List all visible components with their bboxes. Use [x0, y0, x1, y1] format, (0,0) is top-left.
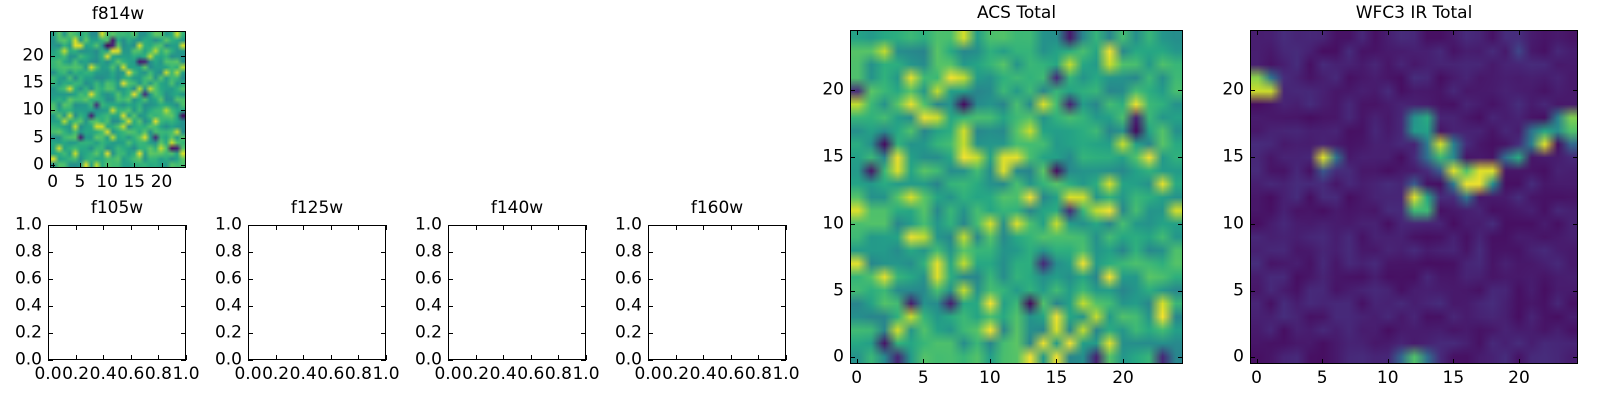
xtick-label-f814w-3: 15 [123, 174, 145, 191]
ytick-mark-f105w-3 [48, 279, 53, 280]
ytick-mark-right-f125w-3 [381, 279, 386, 280]
xtick-mark-f105w-1 [76, 355, 77, 360]
panel-plot-area-f125w [249, 226, 385, 359]
xtick-label-f140w-2: 0.4 [490, 366, 517, 383]
ytick-label-f125w-1: 0.2 [215, 325, 242, 342]
ytick-label-f105w-4: 0.8 [15, 244, 42, 261]
ytick-mark-right-wfc3-ir-total-4 [1573, 90, 1578, 91]
ytick-label-f140w-2: 0.4 [415, 298, 442, 315]
ytick-label-f160w-3: 0.6 [615, 271, 642, 288]
panel-axes-f160w [648, 225, 786, 360]
ytick-label-acs-total-4: 20 [822, 82, 844, 99]
ytick-mark-right-f140w-4 [581, 252, 586, 253]
ytick-mark-right-f814w-1 [181, 138, 186, 139]
xtick-label-f105w-3: 0.6 [117, 366, 144, 383]
ytick-mark-wfc3-ir-total-3 [1250, 157, 1255, 158]
ytick-label-f105w-0: 0.0 [15, 352, 42, 369]
xtick-label-acs-total-3: 15 [1046, 370, 1068, 387]
xtick-mark-top-acs-total-1 [923, 30, 924, 35]
xtick-label-f160w-4: 0.8 [745, 366, 772, 383]
ytick-mark-right-f140w-5 [581, 225, 586, 226]
panel-axes-acs-total [850, 30, 1183, 364]
xtick-mark-f814w-3 [134, 163, 135, 168]
xtick-mark-f125w-3 [331, 355, 332, 360]
ytick-mark-f105w-1 [48, 333, 53, 334]
xtick-mark-wfc3-ir-total-1 [1322, 359, 1323, 364]
xtick-mark-top-f814w-4 [162, 31, 163, 36]
ytick-mark-acs-total-3 [850, 157, 855, 158]
ytick-label-f140w-1: 0.2 [415, 325, 442, 342]
xtick-mark-top-f814w-2 [107, 31, 108, 36]
xtick-mark-acs-total-3 [1056, 359, 1057, 364]
ytick-mark-f814w-1 [50, 138, 55, 139]
xtick-mark-top-acs-total-4 [1123, 30, 1124, 35]
panel-title-f140w: f140w [448, 200, 586, 217]
ytick-mark-acs-total-0 [850, 357, 855, 358]
xtick-mark-top-acs-total-0 [857, 30, 858, 35]
xtick-mark-wfc3-ir-total-2 [1388, 359, 1389, 364]
xtick-mark-wfc3-ir-total-4 [1519, 359, 1520, 364]
xtick-mark-top-f160w-4 [758, 225, 759, 230]
ytick-mark-f125w-5 [248, 225, 253, 226]
xtick-label-f160w-5: 1.0 [772, 366, 799, 383]
xtick-mark-f160w-2 [703, 355, 704, 360]
xtick-label-f125w-5: 1.0 [372, 366, 399, 383]
ytick-mark-f140w-3 [448, 279, 453, 280]
xtick-mark-f105w-5 [186, 355, 187, 360]
ytick-mark-right-f814w-0 [181, 165, 186, 166]
xtick-label-f105w-4: 0.8 [145, 366, 172, 383]
heatmap-wfc3-ir-total [1251, 31, 1577, 363]
ytick-label-acs-total-2: 10 [822, 215, 844, 232]
ytick-label-f814w-4: 20 [22, 47, 44, 64]
ytick-mark-f814w-4 [50, 56, 55, 57]
xtick-label-f105w-5: 1.0 [172, 366, 199, 383]
heatmap-f814w [51, 32, 185, 167]
xtick-mark-acs-total-1 [923, 359, 924, 364]
xtick-mark-f814w-4 [162, 163, 163, 168]
xtick-label-acs-total-2: 10 [979, 370, 1001, 387]
ytick-mark-wfc3-ir-total-1 [1250, 291, 1255, 292]
xtick-mark-top-f814w-0 [53, 31, 54, 36]
ytick-mark-right-f814w-3 [181, 83, 186, 84]
ytick-label-f105w-1: 0.2 [15, 325, 42, 342]
xtick-label-f140w-3: 0.6 [517, 366, 544, 383]
xtick-mark-wfc3-ir-total-0 [1257, 359, 1258, 364]
panel-axes-wfc3-ir-total [1250, 30, 1578, 364]
xtick-mark-top-f105w-5 [186, 225, 187, 230]
xtick-label-wfc3-ir-total-3: 15 [1443, 370, 1465, 387]
ytick-mark-f814w-3 [50, 83, 55, 84]
xtick-mark-acs-total-2 [990, 359, 991, 364]
ytick-mark-f125w-1 [248, 333, 253, 334]
ytick-mark-right-f105w-2 [181, 306, 186, 307]
xtick-mark-f105w-3 [131, 355, 132, 360]
ytick-mark-right-f125w-5 [381, 225, 386, 226]
xtick-mark-f160w-3 [731, 355, 732, 360]
xtick-mark-top-f125w-3 [331, 225, 332, 230]
xtick-label-wfc3-ir-total-1: 5 [1317, 370, 1328, 387]
xtick-mark-top-f140w-1 [476, 225, 477, 230]
figure-canvas: f814w0510152005101520f105w0.00.20.40.60.… [0, 0, 1600, 400]
ytick-label-f125w-5: 1.0 [215, 217, 242, 234]
ytick-mark-f140w-5 [448, 225, 453, 226]
ytick-label-wfc3-ir-total-4: 20 [1222, 82, 1244, 99]
xtick-mark-f160w-5 [786, 355, 787, 360]
panel-plot-area-f105w [49, 226, 185, 359]
ytick-mark-right-f160w-2 [781, 306, 786, 307]
xtick-label-f140w-5: 1.0 [572, 366, 599, 383]
ytick-mark-wfc3-ir-total-0 [1250, 357, 1255, 358]
ytick-label-acs-total-1: 5 [833, 282, 844, 299]
ytick-label-f125w-4: 0.8 [215, 244, 242, 261]
ytick-mark-right-f105w-5 [181, 225, 186, 226]
xtick-mark-f105w-2 [103, 355, 104, 360]
ytick-mark-f105w-5 [48, 225, 53, 226]
ytick-mark-right-acs-total-1 [1178, 291, 1183, 292]
ytick-label-wfc3-ir-total-3: 15 [1222, 148, 1244, 165]
ytick-mark-acs-total-1 [850, 291, 855, 292]
ytick-label-acs-total-3: 15 [822, 148, 844, 165]
xtick-mark-f105w-4 [158, 355, 159, 360]
xtick-mark-top-f160w-1 [676, 225, 677, 230]
ytick-label-f160w-1: 0.2 [615, 325, 642, 342]
ytick-label-f160w-5: 1.0 [615, 217, 642, 234]
ytick-mark-right-f125w-0 [381, 360, 386, 361]
xtick-mark-f125w-5 [386, 355, 387, 360]
xtick-mark-top-f105w-2 [103, 225, 104, 230]
xtick-label-wfc3-ir-total-0: 0 [1251, 370, 1262, 387]
xtick-mark-f140w-4 [558, 355, 559, 360]
ytick-mark-f140w-0 [448, 360, 453, 361]
ytick-mark-f125w-4 [248, 252, 253, 253]
xtick-mark-top-f814w-1 [80, 31, 81, 36]
xtick-mark-top-f140w-4 [558, 225, 559, 230]
xtick-mark-top-f140w-2 [503, 225, 504, 230]
panel-title-f814w: f814w [50, 6, 186, 23]
xtick-mark-f125w-2 [303, 355, 304, 360]
ytick-mark-f160w-1 [648, 333, 653, 334]
xtick-label-f140w-4: 0.8 [545, 366, 572, 383]
xtick-mark-f814w-2 [107, 163, 108, 168]
ytick-mark-f160w-0 [648, 360, 653, 361]
ytick-label-f140w-0: 0.0 [415, 352, 442, 369]
xtick-mark-top-f160w-2 [703, 225, 704, 230]
ytick-label-f125w-2: 0.4 [215, 298, 242, 315]
ytick-mark-f105w-0 [48, 360, 53, 361]
ytick-mark-right-f125w-2 [381, 306, 386, 307]
xtick-mark-top-wfc3-ir-total-2 [1388, 30, 1389, 35]
ytick-mark-acs-total-4 [850, 90, 855, 91]
panel-axes-f140w [448, 225, 586, 360]
ytick-mark-right-f140w-1 [581, 333, 586, 334]
xtick-label-f125w-4: 0.8 [345, 366, 372, 383]
ytick-mark-f160w-2 [648, 306, 653, 307]
ytick-label-f140w-5: 1.0 [415, 217, 442, 234]
ytick-label-f105w-3: 0.6 [15, 271, 42, 288]
ytick-mark-f125w-3 [248, 279, 253, 280]
xtick-label-wfc3-ir-total-4: 20 [1508, 370, 1530, 387]
xtick-mark-wfc3-ir-total-3 [1453, 359, 1454, 364]
ytick-label-f814w-0: 0 [33, 157, 44, 174]
xtick-mark-f160w-4 [758, 355, 759, 360]
ytick-mark-f105w-4 [48, 252, 53, 253]
xtick-mark-top-f105w-4 [158, 225, 159, 230]
ytick-label-wfc3-ir-total-0: 0 [1233, 349, 1244, 366]
ytick-label-wfc3-ir-total-1: 5 [1233, 282, 1244, 299]
ytick-mark-f125w-2 [248, 306, 253, 307]
xtick-label-f105w-2: 0.4 [90, 366, 117, 383]
ytick-label-f140w-4: 0.8 [415, 244, 442, 261]
ytick-label-f105w-2: 0.4 [15, 298, 42, 315]
ytick-mark-right-wfc3-ir-total-2 [1573, 224, 1578, 225]
xtick-label-f125w-2: 0.4 [290, 366, 317, 383]
xtick-label-f140w-1: 0.2 [462, 366, 489, 383]
xtick-mark-top-wfc3-ir-total-0 [1257, 30, 1258, 35]
xtick-mark-top-wfc3-ir-total-1 [1322, 30, 1323, 35]
ytick-mark-right-f160w-4 [781, 252, 786, 253]
xtick-mark-f140w-2 [503, 355, 504, 360]
ytick-mark-f160w-5 [648, 225, 653, 226]
xtick-mark-top-wfc3-ir-total-4 [1519, 30, 1520, 35]
xtick-label-f125w-3: 0.6 [317, 366, 344, 383]
xtick-label-f814w-2: 10 [96, 174, 118, 191]
ytick-label-f160w-0: 0.0 [615, 352, 642, 369]
ytick-mark-right-f105w-4 [181, 252, 186, 253]
panel-title-f160w: f160w [648, 200, 786, 217]
ytick-mark-right-f160w-1 [781, 333, 786, 334]
xtick-label-acs-total-4: 20 [1112, 370, 1134, 387]
panel-axes-f105w [48, 225, 186, 360]
ytick-mark-f814w-0 [50, 165, 55, 166]
xtick-label-f125w-1: 0.2 [262, 366, 289, 383]
xtick-mark-top-f125w-4 [358, 225, 359, 230]
ytick-mark-wfc3-ir-total-2 [1250, 224, 1255, 225]
xtick-mark-top-f160w-3 [731, 225, 732, 230]
ytick-mark-right-wfc3-ir-total-1 [1573, 291, 1578, 292]
xtick-mark-top-wfc3-ir-total-3 [1453, 30, 1454, 35]
xtick-mark-f140w-5 [586, 355, 587, 360]
xtick-label-f814w-0: 0 [47, 174, 58, 191]
panel-title-wfc3-ir-total: WFC3 IR Total [1250, 5, 1578, 22]
ytick-label-f125w-0: 0.0 [215, 352, 242, 369]
xtick-mark-acs-total-4 [1123, 359, 1124, 364]
xtick-mark-f160w-1 [676, 355, 677, 360]
heatmap-acs-total [851, 31, 1182, 363]
ytick-mark-right-f140w-3 [581, 279, 586, 280]
ytick-mark-wfc3-ir-total-4 [1250, 90, 1255, 91]
xtick-label-f160w-2: 0.4 [690, 366, 717, 383]
panel-plot-area-f160w [649, 226, 785, 359]
xtick-mark-f140w-1 [476, 355, 477, 360]
ytick-mark-right-acs-total-0 [1178, 357, 1183, 358]
ytick-mark-f125w-0 [248, 360, 253, 361]
xtick-mark-f125w-1 [276, 355, 277, 360]
ytick-mark-right-f814w-4 [181, 56, 186, 57]
panel-axes-f125w [248, 225, 386, 360]
ytick-mark-f105w-2 [48, 306, 53, 307]
xtick-mark-top-f140w-5 [586, 225, 587, 230]
xtick-mark-acs-total-0 [857, 359, 858, 364]
xtick-mark-top-acs-total-3 [1056, 30, 1057, 35]
ytick-label-f125w-3: 0.6 [215, 271, 242, 288]
panel-axes-f814w [50, 31, 186, 168]
ytick-mark-right-f160w-0 [781, 360, 786, 361]
xtick-mark-f814w-1 [80, 163, 81, 168]
xtick-label-f105w-1: 0.2 [62, 366, 89, 383]
ytick-mark-right-acs-total-4 [1178, 90, 1183, 91]
ytick-mark-f140w-4 [448, 252, 453, 253]
ytick-label-f814w-3: 15 [22, 75, 44, 92]
ytick-label-f105w-5: 1.0 [15, 217, 42, 234]
ytick-mark-right-f125w-4 [381, 252, 386, 253]
ytick-mark-right-f125w-1 [381, 333, 386, 334]
ytick-mark-right-acs-total-2 [1178, 224, 1183, 225]
ytick-label-f814w-1: 5 [33, 129, 44, 146]
ytick-mark-f160w-3 [648, 279, 653, 280]
ytick-mark-right-f140w-0 [581, 360, 586, 361]
panel-title-f105w: f105w [48, 200, 186, 217]
xtick-label-f160w-1: 0.2 [662, 366, 689, 383]
xtick-mark-top-f105w-3 [131, 225, 132, 230]
panel-title-acs-total: ACS Total [850, 5, 1183, 22]
xtick-label-acs-total-1: 5 [918, 370, 929, 387]
xtick-mark-top-f140w-3 [531, 225, 532, 230]
ytick-mark-right-f105w-0 [181, 360, 186, 361]
ytick-label-acs-total-0: 0 [833, 349, 844, 366]
xtick-mark-top-f814w-3 [134, 31, 135, 36]
ytick-mark-f160w-4 [648, 252, 653, 253]
ytick-label-f160w-2: 0.4 [615, 298, 642, 315]
xtick-mark-top-f160w-5 [786, 225, 787, 230]
xtick-label-acs-total-0: 0 [851, 370, 862, 387]
ytick-mark-right-f140w-2 [581, 306, 586, 307]
ytick-mark-right-acs-total-3 [1178, 157, 1183, 158]
ytick-mark-f140w-2 [448, 306, 453, 307]
xtick-mark-top-acs-total-2 [990, 30, 991, 35]
ytick-label-f814w-2: 10 [22, 102, 44, 119]
xtick-label-wfc3-ir-total-2: 10 [1377, 370, 1399, 387]
xtick-mark-f125w-4 [358, 355, 359, 360]
ytick-mark-acs-total-2 [850, 224, 855, 225]
ytick-mark-right-f160w-5 [781, 225, 786, 226]
panel-plot-area-f140w [449, 226, 585, 359]
xtick-mark-top-f125w-1 [276, 225, 277, 230]
panel-title-f125w: f125w [248, 200, 386, 217]
ytick-mark-right-f105w-1 [181, 333, 186, 334]
ytick-mark-right-f105w-3 [181, 279, 186, 280]
xtick-label-f814w-4: 20 [151, 174, 173, 191]
xtick-mark-top-f125w-5 [386, 225, 387, 230]
ytick-label-f160w-4: 0.8 [615, 244, 642, 261]
ytick-label-wfc3-ir-total-2: 10 [1222, 215, 1244, 232]
xtick-mark-top-f105w-1 [76, 225, 77, 230]
ytick-mark-right-wfc3-ir-total-3 [1573, 157, 1578, 158]
ytick-mark-right-wfc3-ir-total-0 [1573, 357, 1578, 358]
ytick-mark-f814w-2 [50, 110, 55, 111]
ytick-label-f140w-3: 0.6 [415, 271, 442, 288]
ytick-mark-right-f814w-2 [181, 110, 186, 111]
ytick-mark-f140w-1 [448, 333, 453, 334]
xtick-label-f160w-3: 0.6 [717, 366, 744, 383]
xtick-mark-f140w-3 [531, 355, 532, 360]
xtick-mark-top-f125w-2 [303, 225, 304, 230]
ytick-mark-right-f160w-3 [781, 279, 786, 280]
xtick-label-f814w-1: 5 [74, 174, 85, 191]
